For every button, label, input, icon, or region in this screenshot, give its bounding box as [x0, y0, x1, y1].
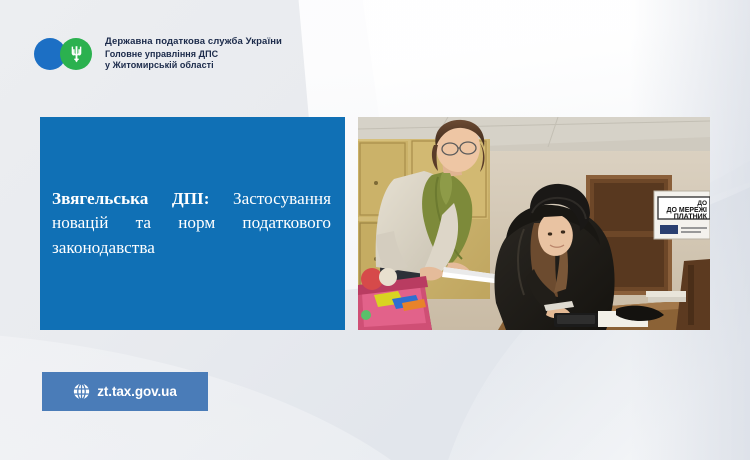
- org-name-line-3: у Житомирській області: [105, 60, 282, 72]
- svg-text:ПЛАТНИК: ПЛАТНИК: [674, 214, 708, 221]
- org-name-line-1: Державна податкова служба України: [105, 36, 282, 49]
- headline-card: Звягельська ДПІ: Застосування новацій та…: [40, 117, 345, 330]
- svg-text:ДО: ДО: [697, 200, 707, 207]
- poster-canvas: Державна податкова служба України Головн…: [0, 0, 750, 460]
- wall-poster: ДО ДО МЕРЕЖІ ПЛАТНИК: [654, 191, 710, 239]
- header-brand: Державна податкова служба України Головн…: [34, 36, 282, 72]
- logo-green-circle-icon: [60, 38, 92, 70]
- org-name-block: Державна податкова служба України Головн…: [105, 36, 282, 72]
- article-photo: ДО ДО МЕРЕЖІ ПЛАТНИК: [358, 117, 710, 330]
- website-url-text: zt.tax.gov.ua: [97, 384, 176, 399]
- website-url-badge[interactable]: zt.tax.gov.ua: [42, 372, 208, 411]
- headline-text: Звягельська ДПІ: Застосування новацій та…: [52, 187, 331, 260]
- globe-icon: [73, 383, 90, 400]
- photo-basket: [358, 268, 432, 330]
- org-name-line-2: Головне управління ДПС: [105, 49, 282, 61]
- ukraine-trident-icon: [69, 45, 84, 63]
- dps-logo: [34, 38, 92, 70]
- headline-lead: Звягельська ДПІ:: [52, 189, 209, 208]
